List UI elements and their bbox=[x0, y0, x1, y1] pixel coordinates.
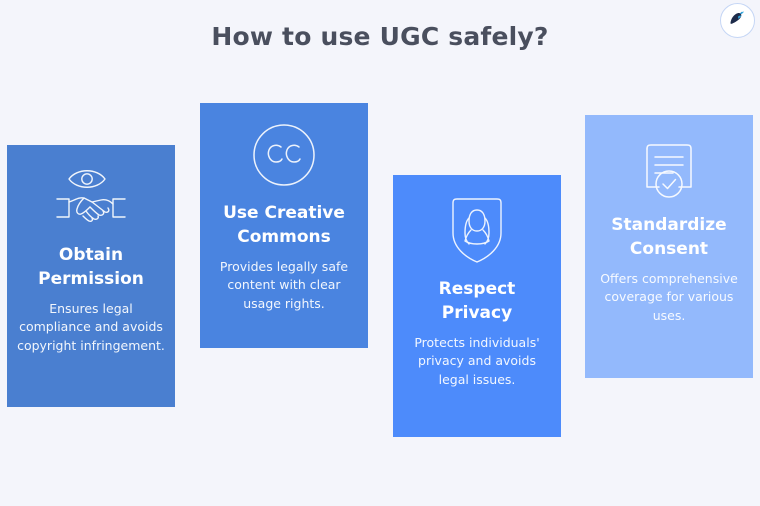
card-creative-commons[interactable]: Use Creative Commons Provides legally sa… bbox=[200, 103, 368, 348]
card-body: Ensures legal compliance and avoids copy… bbox=[17, 300, 165, 354]
card-heading: Standardize Consent bbox=[595, 213, 743, 261]
card-respect-privacy[interactable]: Respect Privacy Protects individuals' pr… bbox=[393, 175, 561, 437]
document-check-icon bbox=[633, 131, 705, 203]
creative-commons-icon bbox=[248, 119, 320, 191]
card-heading: Respect Privacy bbox=[403, 277, 551, 325]
card-body: Protects individuals' privacy and avoids… bbox=[403, 334, 551, 388]
card-body: Provides legally safe content with clear… bbox=[210, 258, 358, 312]
brand-badge[interactable] bbox=[720, 3, 755, 38]
card-body: Offers comprehensive coverage for variou… bbox=[595, 270, 743, 324]
page-title: How to use UGC safely? bbox=[0, 22, 760, 51]
shield-person-icon bbox=[441, 191, 513, 267]
card-standardize-consent[interactable]: Standardize Consent Offers comprehensive… bbox=[585, 115, 753, 378]
bird-logo-icon bbox=[726, 7, 749, 34]
card-heading: Obtain Permission bbox=[17, 243, 165, 291]
eye-handshake-icon bbox=[51, 161, 131, 233]
card-heading: Use Creative Commons bbox=[210, 201, 358, 249]
card-obtain-permission[interactable]: Obtain Permission Ensures legal complian… bbox=[7, 145, 175, 407]
